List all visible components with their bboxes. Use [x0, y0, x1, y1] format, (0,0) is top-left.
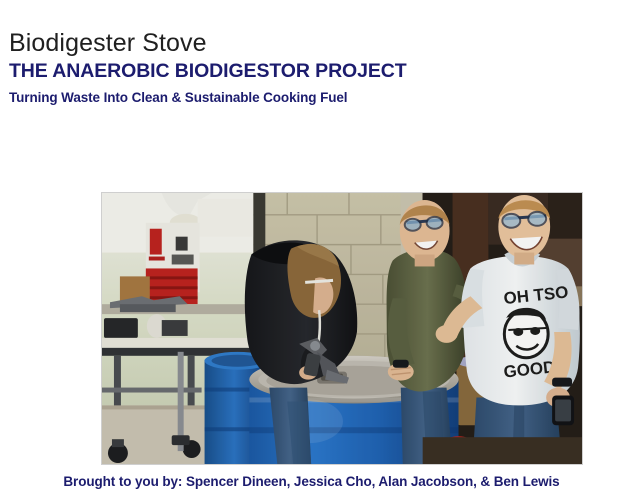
project-tagline: Turning Waste Into Clean & Sustainable C… — [9, 90, 347, 106]
project-photo: OH TSO GOOD! — [101, 192, 583, 465]
photo-caption: Brought to you by: Spencer Dineen, Jessi… — [0, 473, 623, 490]
project-heading: THE ANAEROBIC BIODIGESTOR PROJECT — [9, 60, 407, 82]
page-title: Biodigester Stove — [9, 28, 207, 58]
project-photo-image: OH TSO GOOD! — [102, 193, 582, 464]
